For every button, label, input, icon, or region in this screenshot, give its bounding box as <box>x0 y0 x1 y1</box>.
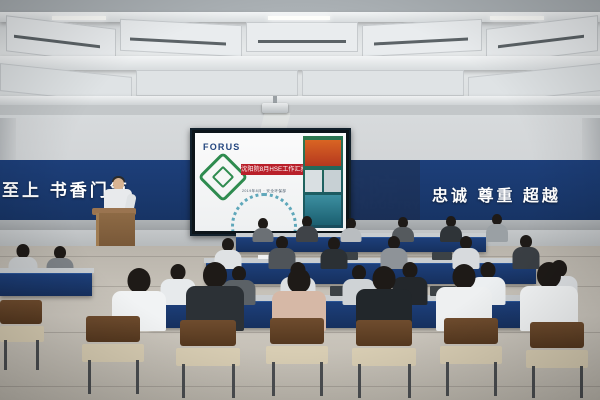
chair-back <box>530 322 584 348</box>
slide-emblem-icon <box>198 152 249 203</box>
ceiling-vent <box>258 40 346 43</box>
photograph-scene: 究院 AL INDUSTRY 至上 书香门第 忠诚 尊重 超越 FORUS 沈阳… <box>0 0 600 400</box>
chair-back <box>444 318 498 344</box>
chair-seat <box>82 344 144 362</box>
ceiling-light <box>52 16 106 20</box>
desk-top-row-left <box>0 268 94 273</box>
slide-title: 沈阳院8月HSE工作汇报 <box>241 164 307 175</box>
desk-row-left <box>0 272 92 296</box>
laptop <box>432 252 452 260</box>
ceiling-light <box>268 16 330 20</box>
ceiling-soffit <box>0 105 600 115</box>
attendee-head <box>203 262 227 288</box>
attendee-head <box>17 244 30 258</box>
chair-seat <box>266 346 328 364</box>
ceiling-light <box>490 16 544 20</box>
attendee <box>296 216 318 242</box>
chair <box>0 300 44 370</box>
ceiling-panel <box>246 22 358 52</box>
ceiling-panel <box>302 70 464 96</box>
chair-seat <box>526 350 588 368</box>
chair-back <box>180 320 236 346</box>
attendee <box>320 237 348 268</box>
ceiling-panel <box>136 70 298 96</box>
attendee-head <box>373 266 396 291</box>
slide-subtitle: 2019年8月 · 安全环保部 <box>242 189 286 194</box>
chair-seat <box>352 348 416 366</box>
ceiling-beam-back <box>0 96 600 105</box>
attendee-head <box>288 268 311 293</box>
slide-photo-b <box>305 170 322 192</box>
attendee <box>486 214 508 242</box>
slide-photo-panel <box>303 136 343 228</box>
chair <box>526 322 588 398</box>
attendee-head <box>171 264 186 280</box>
chair-back <box>86 316 140 342</box>
ceiling-projector-icon <box>262 103 288 113</box>
chair <box>176 320 240 398</box>
slide-brand-logo: FORUS <box>203 142 241 152</box>
slide: FORUS 沈阳院8月HSE工作汇报 2019年8月 · 安全环保部 <box>195 133 346 231</box>
chair <box>352 320 416 398</box>
attendee-head <box>537 262 561 288</box>
wall-banner-right-text: 忠诚 尊重 超越 <box>432 182 561 206</box>
attendee-head <box>128 268 151 293</box>
attendee-body <box>296 226 318 242</box>
ceiling-beam-mid <box>0 56 600 70</box>
chair-back <box>0 300 42 324</box>
attendee <box>520 262 578 330</box>
chair-seat <box>440 346 502 364</box>
slide-photo-a <box>305 140 341 166</box>
chair-back <box>270 318 324 344</box>
slide-photo-c <box>324 170 341 192</box>
attendee-head <box>453 264 476 289</box>
ceiling <box>0 0 600 128</box>
chair-back <box>356 320 412 346</box>
chair <box>266 318 328 396</box>
chair <box>82 316 144 394</box>
chair <box>440 318 502 396</box>
chair-seat <box>176 348 240 366</box>
attendee-body <box>486 224 508 242</box>
